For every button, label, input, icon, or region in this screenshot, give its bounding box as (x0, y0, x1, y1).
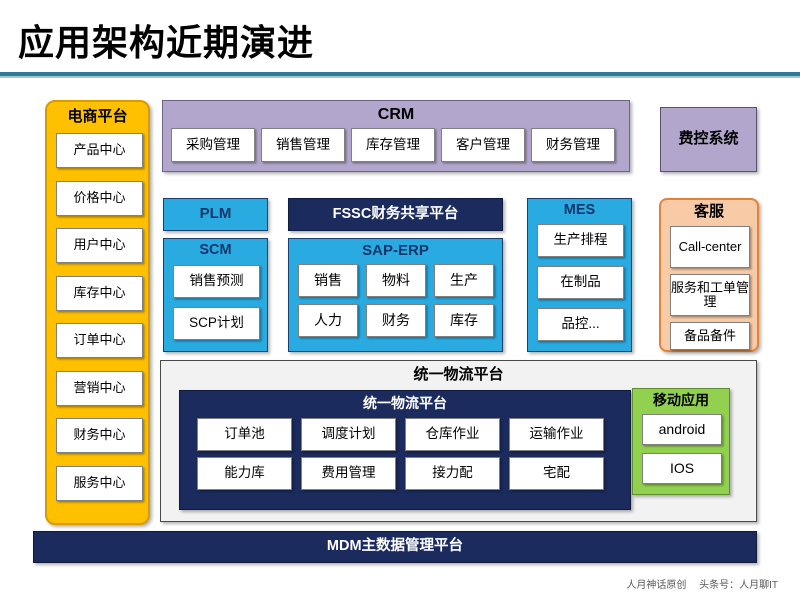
mdm-platform-bar[interactable]: MDM主数据管理平台 (33, 531, 757, 563)
mobile-item-ios[interactable]: IOS (642, 453, 722, 484)
ecommerce-item-product-center[interactable]: 产品中心 (56, 133, 143, 168)
logistics-item-transport-operation[interactable]: 运输作业 (509, 418, 604, 451)
scm-item-sales-forecast[interactable]: 销售预测 (173, 265, 260, 298)
page-title: 应用架构近期演进 (18, 14, 314, 66)
customer-service-item-list: Call-center 服务和工单管理 备品备件 (670, 226, 750, 356)
logistics-item-warehouse-operation[interactable]: 仓库作业 (405, 418, 500, 451)
mobile-item-android[interactable]: android (642, 414, 722, 445)
ecommerce-platform-group[interactable]: 电商平台 产品中心 价格中心 用户中心 库存中心 订单中心 营销中心 财务中心 … (45, 100, 150, 525)
unified-logistics-inner-group[interactable]: 统一物流平台 订单池 调度计划 仓库作业 运输作业 能力库 费用管理 接力配 宅… (179, 390, 631, 510)
customer-service-item-spare-parts[interactable]: 备品备件 (670, 322, 750, 350)
customer-service-item-ticket-management[interactable]: 服务和工单管理 (670, 274, 750, 316)
ecommerce-item-price-center[interactable]: 价格中心 (56, 181, 143, 216)
unified-logistics-inner-title: 统一物流平台 (180, 396, 630, 411)
sap-erp-group[interactable]: SAP-ERP 销售 物料 生产 人力 财务 库存 (288, 238, 503, 352)
crm-title: CRM (163, 106, 629, 124)
sap-item-production[interactable]: 生产 (434, 264, 494, 297)
logistics-item-capacity-pool[interactable]: 能力库 (197, 457, 292, 490)
ecommerce-item-list: 产品中心 价格中心 用户中心 库存中心 订单中心 营销中心 财务中心 服务中心 (56, 133, 143, 513)
crm-item-sales[interactable]: 销售管理 (261, 128, 345, 162)
fssc-group[interactable]: FSSC财务共享平台 (288, 198, 503, 231)
mes-item-work-in-process[interactable]: 在制品 (537, 266, 624, 299)
logistics-item-list: 订单池 调度计划 仓库作业 运输作业 能力库 费用管理 接力配 宅配 (197, 418, 615, 490)
scm-title: SCM (164, 243, 267, 259)
ecommerce-item-finance-center[interactable]: 财务中心 (56, 418, 143, 453)
customer-service-item-call-center[interactable]: Call-center (670, 226, 750, 268)
mes-item-quality-control[interactable]: 品控... (537, 308, 624, 341)
logistics-item-relay-delivery[interactable]: 接力配 (405, 457, 500, 490)
logistics-item-dispatch-plan[interactable]: 调度计划 (301, 418, 396, 451)
crm-item-finance[interactable]: 财务管理 (531, 128, 615, 162)
mes-group[interactable]: MES 生产排程 在制品 品控... (527, 198, 632, 352)
sap-erp-title: SAP-ERP (289, 243, 502, 260)
footer-account: 头条号：人月聊IT (699, 580, 778, 591)
unified-logistics-outer-title: 统一物流平台 (161, 367, 756, 384)
crm-item-inventory[interactable]: 库存管理 (351, 128, 435, 162)
mes-item-production-scheduling[interactable]: 生产排程 (537, 224, 624, 257)
sap-item-hr[interactable]: 人力 (298, 304, 358, 337)
ecommerce-item-marketing-center[interactable]: 营销中心 (56, 371, 143, 406)
plm-title: PLM (200, 206, 232, 223)
logistics-item-home-delivery[interactable]: 宅配 (509, 457, 604, 490)
footer: 人月神话原创 头条号：人月聊IT (616, 576, 778, 591)
ecommerce-item-user-center[interactable]: 用户中心 (56, 228, 143, 263)
sap-item-finance[interactable]: 财务 (366, 304, 426, 337)
mes-title: MES (528, 203, 631, 219)
customer-service-title: 客服 (661, 204, 757, 221)
logistics-item-order-pool[interactable]: 订单池 (197, 418, 292, 451)
title-area: 应用架构近期演进 (0, 0, 800, 78)
ecommerce-item-inventory-center[interactable]: 库存中心 (56, 276, 143, 311)
ecommerce-platform-title: 电商平台 (47, 109, 148, 126)
ecommerce-item-service-center[interactable]: 服务中心 (56, 466, 143, 501)
sap-erp-item-list: 销售 物料 生产 人力 财务 库存 (298, 264, 495, 337)
scm-group[interactable]: SCM 销售预测 SCP计划 (163, 238, 268, 352)
crm-item-customer[interactable]: 客户管理 (441, 128, 525, 162)
customer-service-group[interactable]: 客服 Call-center 服务和工单管理 备品备件 (659, 198, 759, 352)
fssc-title: FSSC财务共享平台 (333, 207, 459, 223)
crm-item-list: 采购管理 销售管理 库存管理 客户管理 财务管理 (171, 128, 615, 162)
mes-item-list: 生产排程 在制品 品控... (537, 224, 624, 350)
expense-control-group[interactable]: 费控系统 (660, 107, 757, 172)
expense-control-title: 费控系统 (678, 131, 738, 148)
mdm-platform-title: MDM主数据管理平台 (327, 539, 463, 555)
scm-item-list: 销售预测 SCP计划 (173, 265, 260, 349)
mobile-app-group[interactable]: 移动应用 android IOS (632, 388, 730, 495)
mobile-app-title: 移动应用 (633, 393, 729, 408)
sap-item-sales[interactable]: 销售 (298, 264, 358, 297)
plm-group[interactable]: PLM (163, 198, 268, 231)
ecommerce-item-order-center[interactable]: 订单中心 (56, 323, 143, 358)
footer-credit: 人月神话原创 (626, 580, 686, 591)
sap-item-material[interactable]: 物料 (366, 264, 426, 297)
scm-item-scp-plan[interactable]: SCP计划 (173, 307, 260, 340)
title-divider-light (0, 76, 800, 78)
mobile-app-item-list: android IOS (642, 414, 722, 492)
crm-item-purchasing[interactable]: 采购管理 (171, 128, 255, 162)
logistics-item-fee-management[interactable]: 费用管理 (301, 457, 396, 490)
sap-item-inventory[interactable]: 库存 (434, 304, 494, 337)
crm-group[interactable]: CRM 采购管理 销售管理 库存管理 客户管理 财务管理 (162, 100, 630, 172)
